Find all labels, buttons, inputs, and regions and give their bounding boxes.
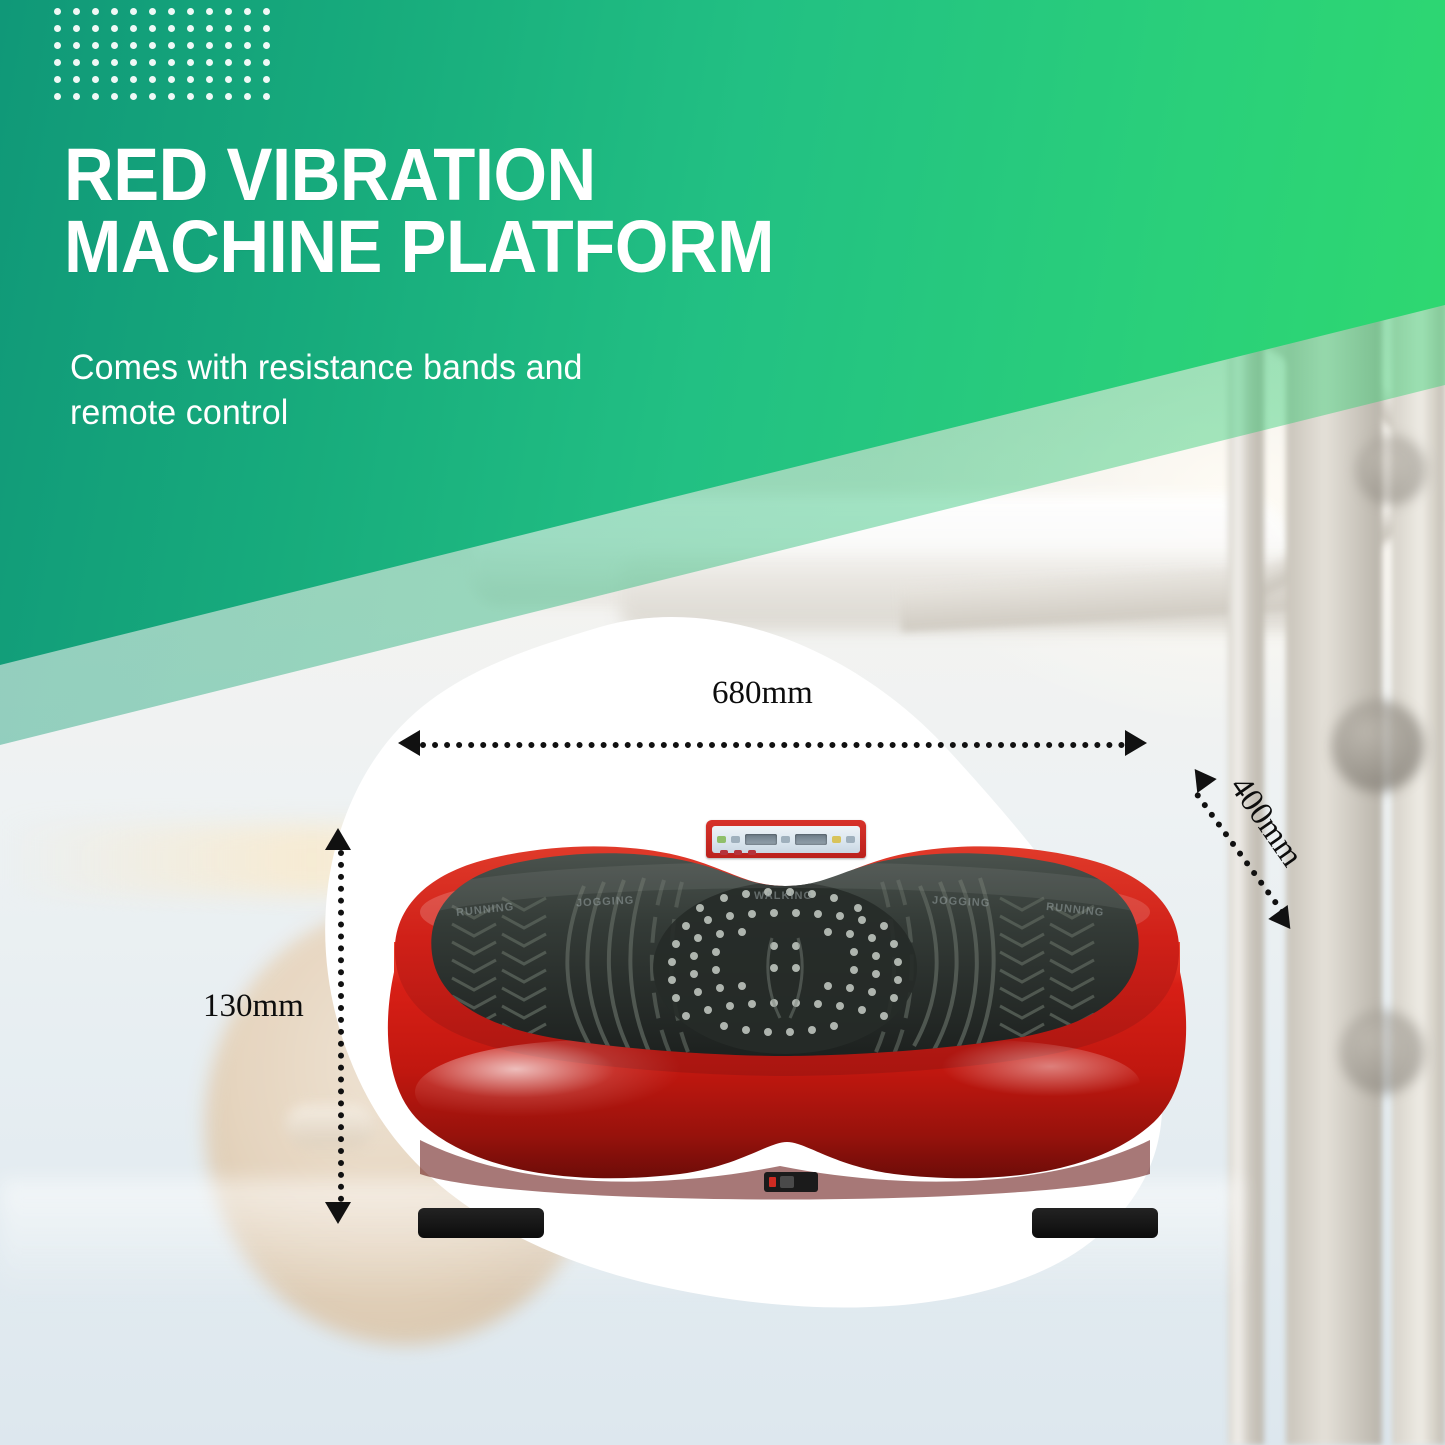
product-banner-image: RED VIBRATION MACHINE PLATFORM Comes wit… (0, 0, 1445, 1445)
dimension-arrow-width-left (398, 730, 420, 756)
product-foot-right (1032, 1208, 1158, 1238)
dot-grid-icon (54, 8, 282, 110)
power-switch-rocker-icon[interactable] (769, 1177, 776, 1187)
weight-plate-middle (1332, 700, 1424, 792)
mat-label-2: WALKING (754, 890, 813, 902)
dimension-line-height (338, 850, 344, 1202)
weight-plate-top (1356, 435, 1426, 505)
dimension-arrow-height-bottom (325, 1202, 351, 1224)
panel-indicator-row (720, 850, 756, 855)
panel-button-program-icon[interactable] (832, 836, 841, 843)
panel-button-set-icon[interactable] (781, 836, 790, 843)
power-socket-icon (780, 1176, 794, 1188)
product-footplate-mat: RUNNING JOGGING WALKING JOGGING RUNNING (424, 846, 1146, 1094)
panel-display-speed (745, 834, 777, 845)
weight-plate-bottom (1340, 1010, 1424, 1094)
dimension-label-width: 680mm (712, 675, 813, 712)
page-subtitle: Comes with resistance bands and remote c… (70, 346, 583, 436)
dimension-arrow-width-right (1125, 730, 1147, 756)
dimension-arrow-height-top (325, 828, 351, 850)
control-panel[interactable] (706, 820, 866, 858)
power-switch[interactable] (764, 1172, 818, 1192)
panel-button-mode-icon[interactable] (731, 836, 740, 843)
dimension-label-height: 130mm (203, 988, 304, 1025)
panel-button-up-icon[interactable] (717, 836, 726, 843)
dimension-line-width (420, 742, 1125, 748)
control-panel-face (712, 826, 860, 853)
product-foot-left (418, 1208, 544, 1238)
panel-display-time (795, 834, 827, 845)
panel-button-down-icon[interactable] (846, 836, 855, 843)
product-image: RUNNING JOGGING WALKING JOGGING RUNNING (372, 800, 1202, 1240)
page-title: RED VIBRATION MACHINE PLATFORM (64, 139, 774, 283)
